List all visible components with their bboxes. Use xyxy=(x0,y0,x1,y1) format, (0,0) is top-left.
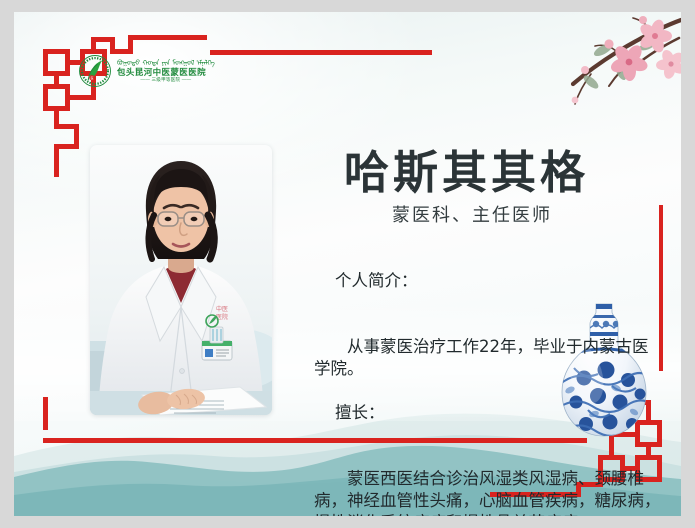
doctor-name: 哈斯其其格 xyxy=(344,136,589,201)
hospital-logo: 医 ᠪᠤᠭᠤᠲᠤ ᠬᠣᠲᠠ ᠶᠢᠨ ᠮᠣᠩᠭᠣᠯ ᠡᠮᠨᠡᠯᠭᠡ 包头昆河中医蒙… xyxy=(78,54,215,88)
specialty-heading: 擅长： xyxy=(335,403,385,422)
specialty-body: 蒙医西医结合诊治风湿类风湿病、颈腰椎病，神经血管性头痛，心脑血管疾病，糖尿病，慢… xyxy=(314,468,662,516)
doctor-bio-block: 个人简介： 从事蒙医治疗工作22年，毕业于内蒙古医学院。 擅长： 蒙医西医结合诊… xyxy=(314,248,662,516)
doctor-title: 蒙医科、主任医师 xyxy=(392,201,552,227)
doctor-photo: 中医 医院 xyxy=(90,145,272,415)
bio-heading: 个人简介： xyxy=(335,271,418,290)
doctor-profile-poster: 医 ᠪᠤᠭᠤᠲᠤ ᠬᠣᠲᠠ ᠶᠢᠨ ᠮᠣᠩᠭᠣᠯ ᠡᠮᠨᠡᠯᠭᠡ 包头昆河中医蒙… xyxy=(14,12,681,516)
logo-subtitle: —— 三级甲等医院 —— xyxy=(117,78,215,83)
logo-hospital-name: 包头昆河中医蒙医医院 xyxy=(117,68,215,77)
svg-text:医: 医 xyxy=(91,76,94,80)
hospital-logo-text: ᠪᠤᠭᠤᠲᠤ ᠬᠣᠲᠠ ᠶᠢᠨ ᠮᠣᠩᠭᠣᠯ ᠡᠮᠨᠡᠯᠭᠡ 包头昆河中医蒙医医… xyxy=(117,60,215,83)
cherry-blossom-branch-icon xyxy=(551,12,681,127)
hospital-leaf-emblem-icon: 医 xyxy=(78,54,112,88)
red-accent-line-left-stub xyxy=(43,397,48,430)
red-accent-line-top xyxy=(210,50,432,55)
svg-text:中医: 中医 xyxy=(216,305,228,313)
logo-mongolian-script: ᠪᠤᠭᠤᠲᠤ ᠬᠣᠲᠠ ᠶᠢᠨ ᠮᠣᠩᠭᠣᠯ ᠡᠮᠨᠡᠯᠭᠡ xyxy=(117,60,215,67)
bio-body: 从事蒙医治疗工作22年，毕业于内蒙古医学院。 xyxy=(314,336,662,380)
